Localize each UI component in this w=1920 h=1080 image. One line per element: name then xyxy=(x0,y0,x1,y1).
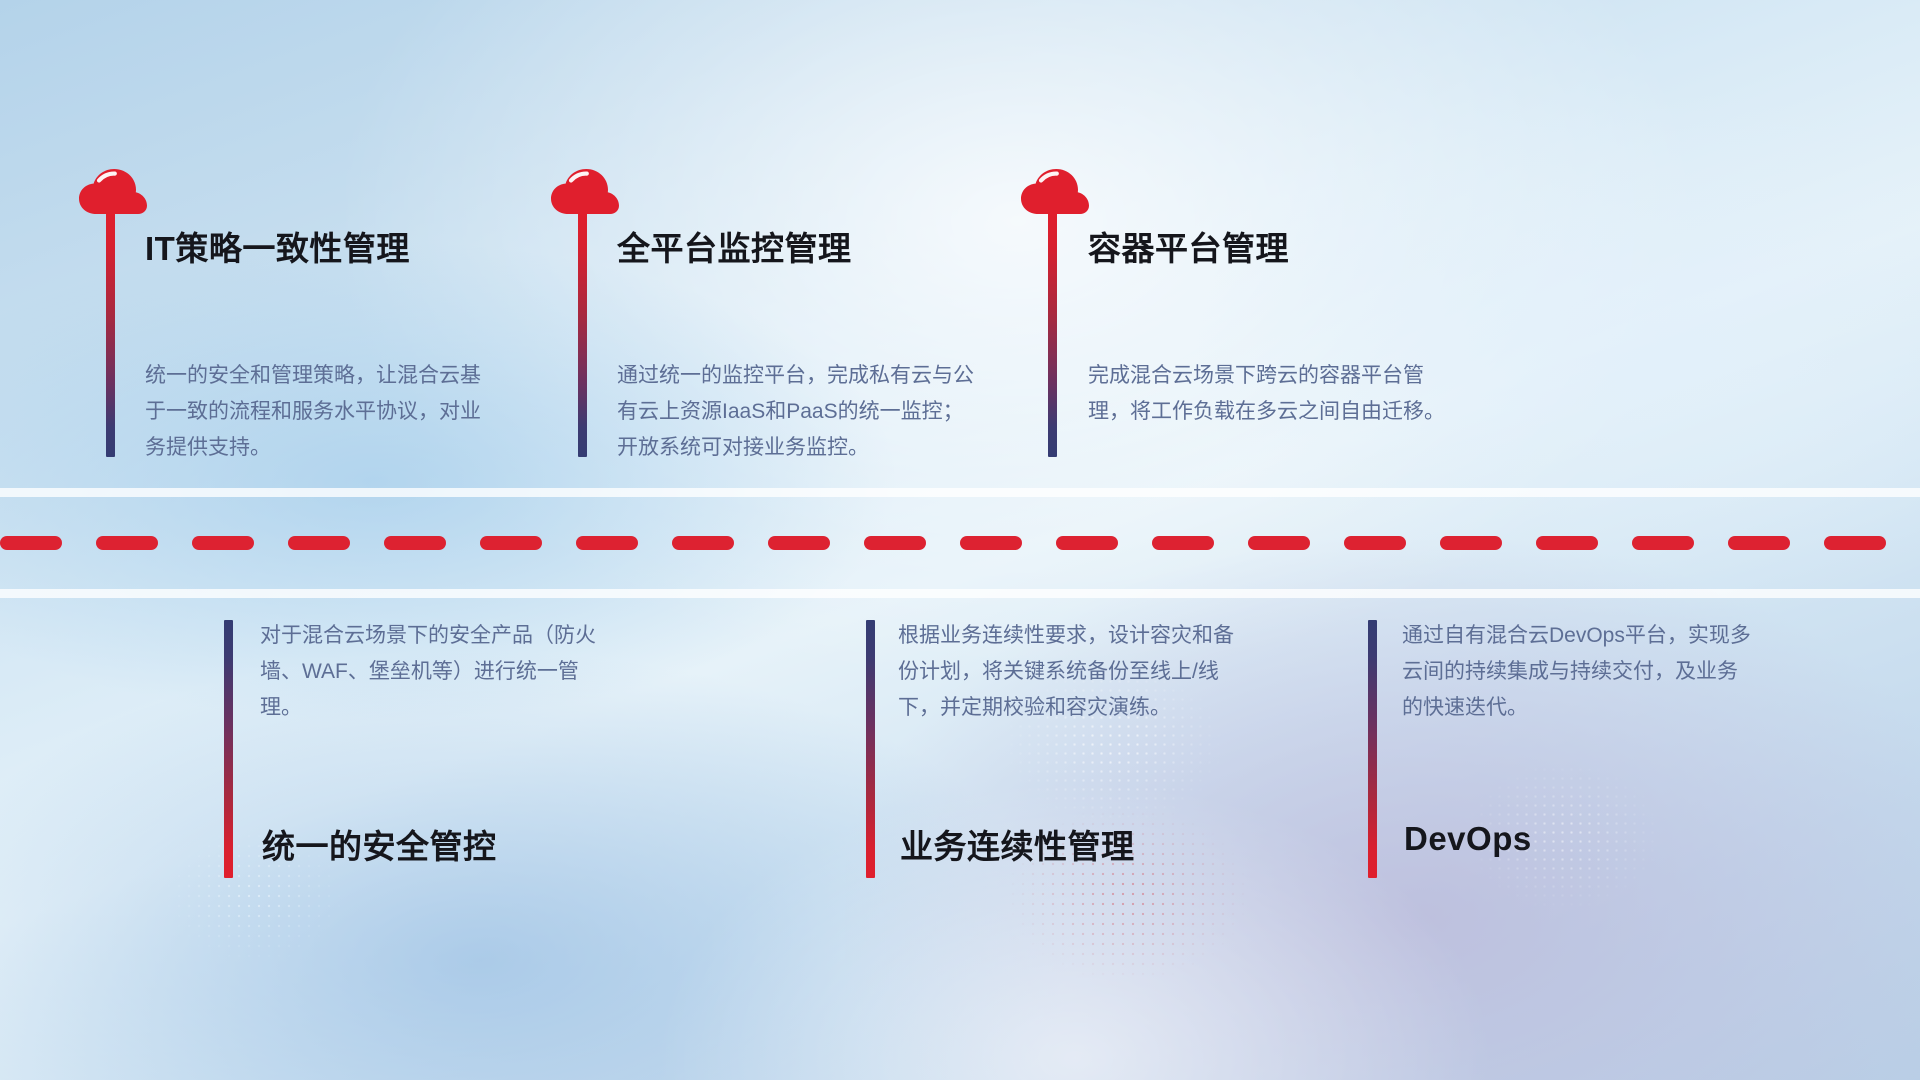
divider-rule-top xyxy=(0,488,1920,497)
divider-dash xyxy=(96,536,158,550)
connector-line xyxy=(106,212,115,457)
divider-dash xyxy=(768,536,830,550)
feature-body: 通过自有混合云DevOps平台，实现多云间的持续集成与持续交付，及业务的快速迭代… xyxy=(1402,618,1754,726)
divider-dash xyxy=(576,536,638,550)
feature-card-devops[interactable]: 通过自有混合云DevOps平台，实现多云间的持续集成与持续交付，及业务的快速迭代… xyxy=(1110,598,1920,1080)
cloud-icon xyxy=(550,168,620,216)
divider-dash xyxy=(1632,536,1694,550)
feature-heading: 业务连续性管理 xyxy=(900,820,1135,868)
feature-body: 完成混合云场景下跨云的容器平台管理，将工作负载在多云之间自由迁移。 xyxy=(1088,358,1448,430)
divider-dash xyxy=(864,536,926,550)
divider-dash xyxy=(0,536,62,550)
divider-dash xyxy=(480,536,542,550)
feature-body: 统一的安全和管理策略，让混合云基于一致的流程和服务水平协议，对业务提供支持。 xyxy=(145,358,497,466)
top-feature-row: IT策略一致性管理 统一的安全和管理策略，让混合云基于一致的流程和服务水平协议，… xyxy=(0,0,1920,490)
bottom-feature-row: 对于混合云场景下的安全产品（防火墙、WAF、堡垒机等）进行统一管理。 统一的安全… xyxy=(0,598,1920,1080)
divider-dash xyxy=(384,536,446,550)
feature-heading: IT策略一致性管理 xyxy=(145,222,410,270)
divider-dash xyxy=(192,536,254,550)
feature-card-container-platform[interactable]: 容器平台管理 完成混合云场景下跨云的容器平台管理，将工作负载在多云之间自由迁移。 xyxy=(1010,0,1710,490)
connector-line xyxy=(578,212,587,457)
connector-line xyxy=(866,620,875,878)
divider-dash xyxy=(1248,536,1310,550)
divider-dash xyxy=(1440,536,1502,550)
cloud-icon xyxy=(1020,168,1090,216)
divider-dash xyxy=(1728,536,1790,550)
divider-dash xyxy=(288,536,350,550)
feature-card-unified-security[interactable]: 对于混合云场景下的安全产品（防火墙、WAF、堡垒机等）进行统一管理。 统一的安全… xyxy=(0,598,660,1080)
connector-line xyxy=(224,620,233,878)
dashed-divider-icon xyxy=(0,536,1920,550)
feature-heading: DevOps xyxy=(1404,820,1532,858)
divider-dash xyxy=(672,536,734,550)
divider-dash xyxy=(1344,536,1406,550)
feature-body: 通过统一的监控平台，完成私有云与公有云上资源IaaS和PaaS的统一监控；开放系… xyxy=(617,358,977,466)
divider-rule-bottom xyxy=(0,589,1920,598)
feature-body: 对于混合云场景下的安全产品（防火墙、WAF、堡垒机等）进行统一管理。 xyxy=(260,618,612,726)
divider-dash xyxy=(1536,536,1598,550)
divider-dash xyxy=(1056,536,1118,550)
feature-heading: 容器平台管理 xyxy=(1088,222,1289,270)
connector-line xyxy=(1048,212,1057,457)
divider-dash xyxy=(960,536,1022,550)
connector-line xyxy=(1368,620,1377,878)
feature-heading: 统一的安全管控 xyxy=(262,820,497,868)
section-divider xyxy=(0,488,1920,598)
feature-heading: 全平台监控管理 xyxy=(617,222,852,270)
cloud-icon xyxy=(78,168,148,216)
divider-dash xyxy=(1824,536,1886,550)
divider-dash xyxy=(1152,536,1214,550)
